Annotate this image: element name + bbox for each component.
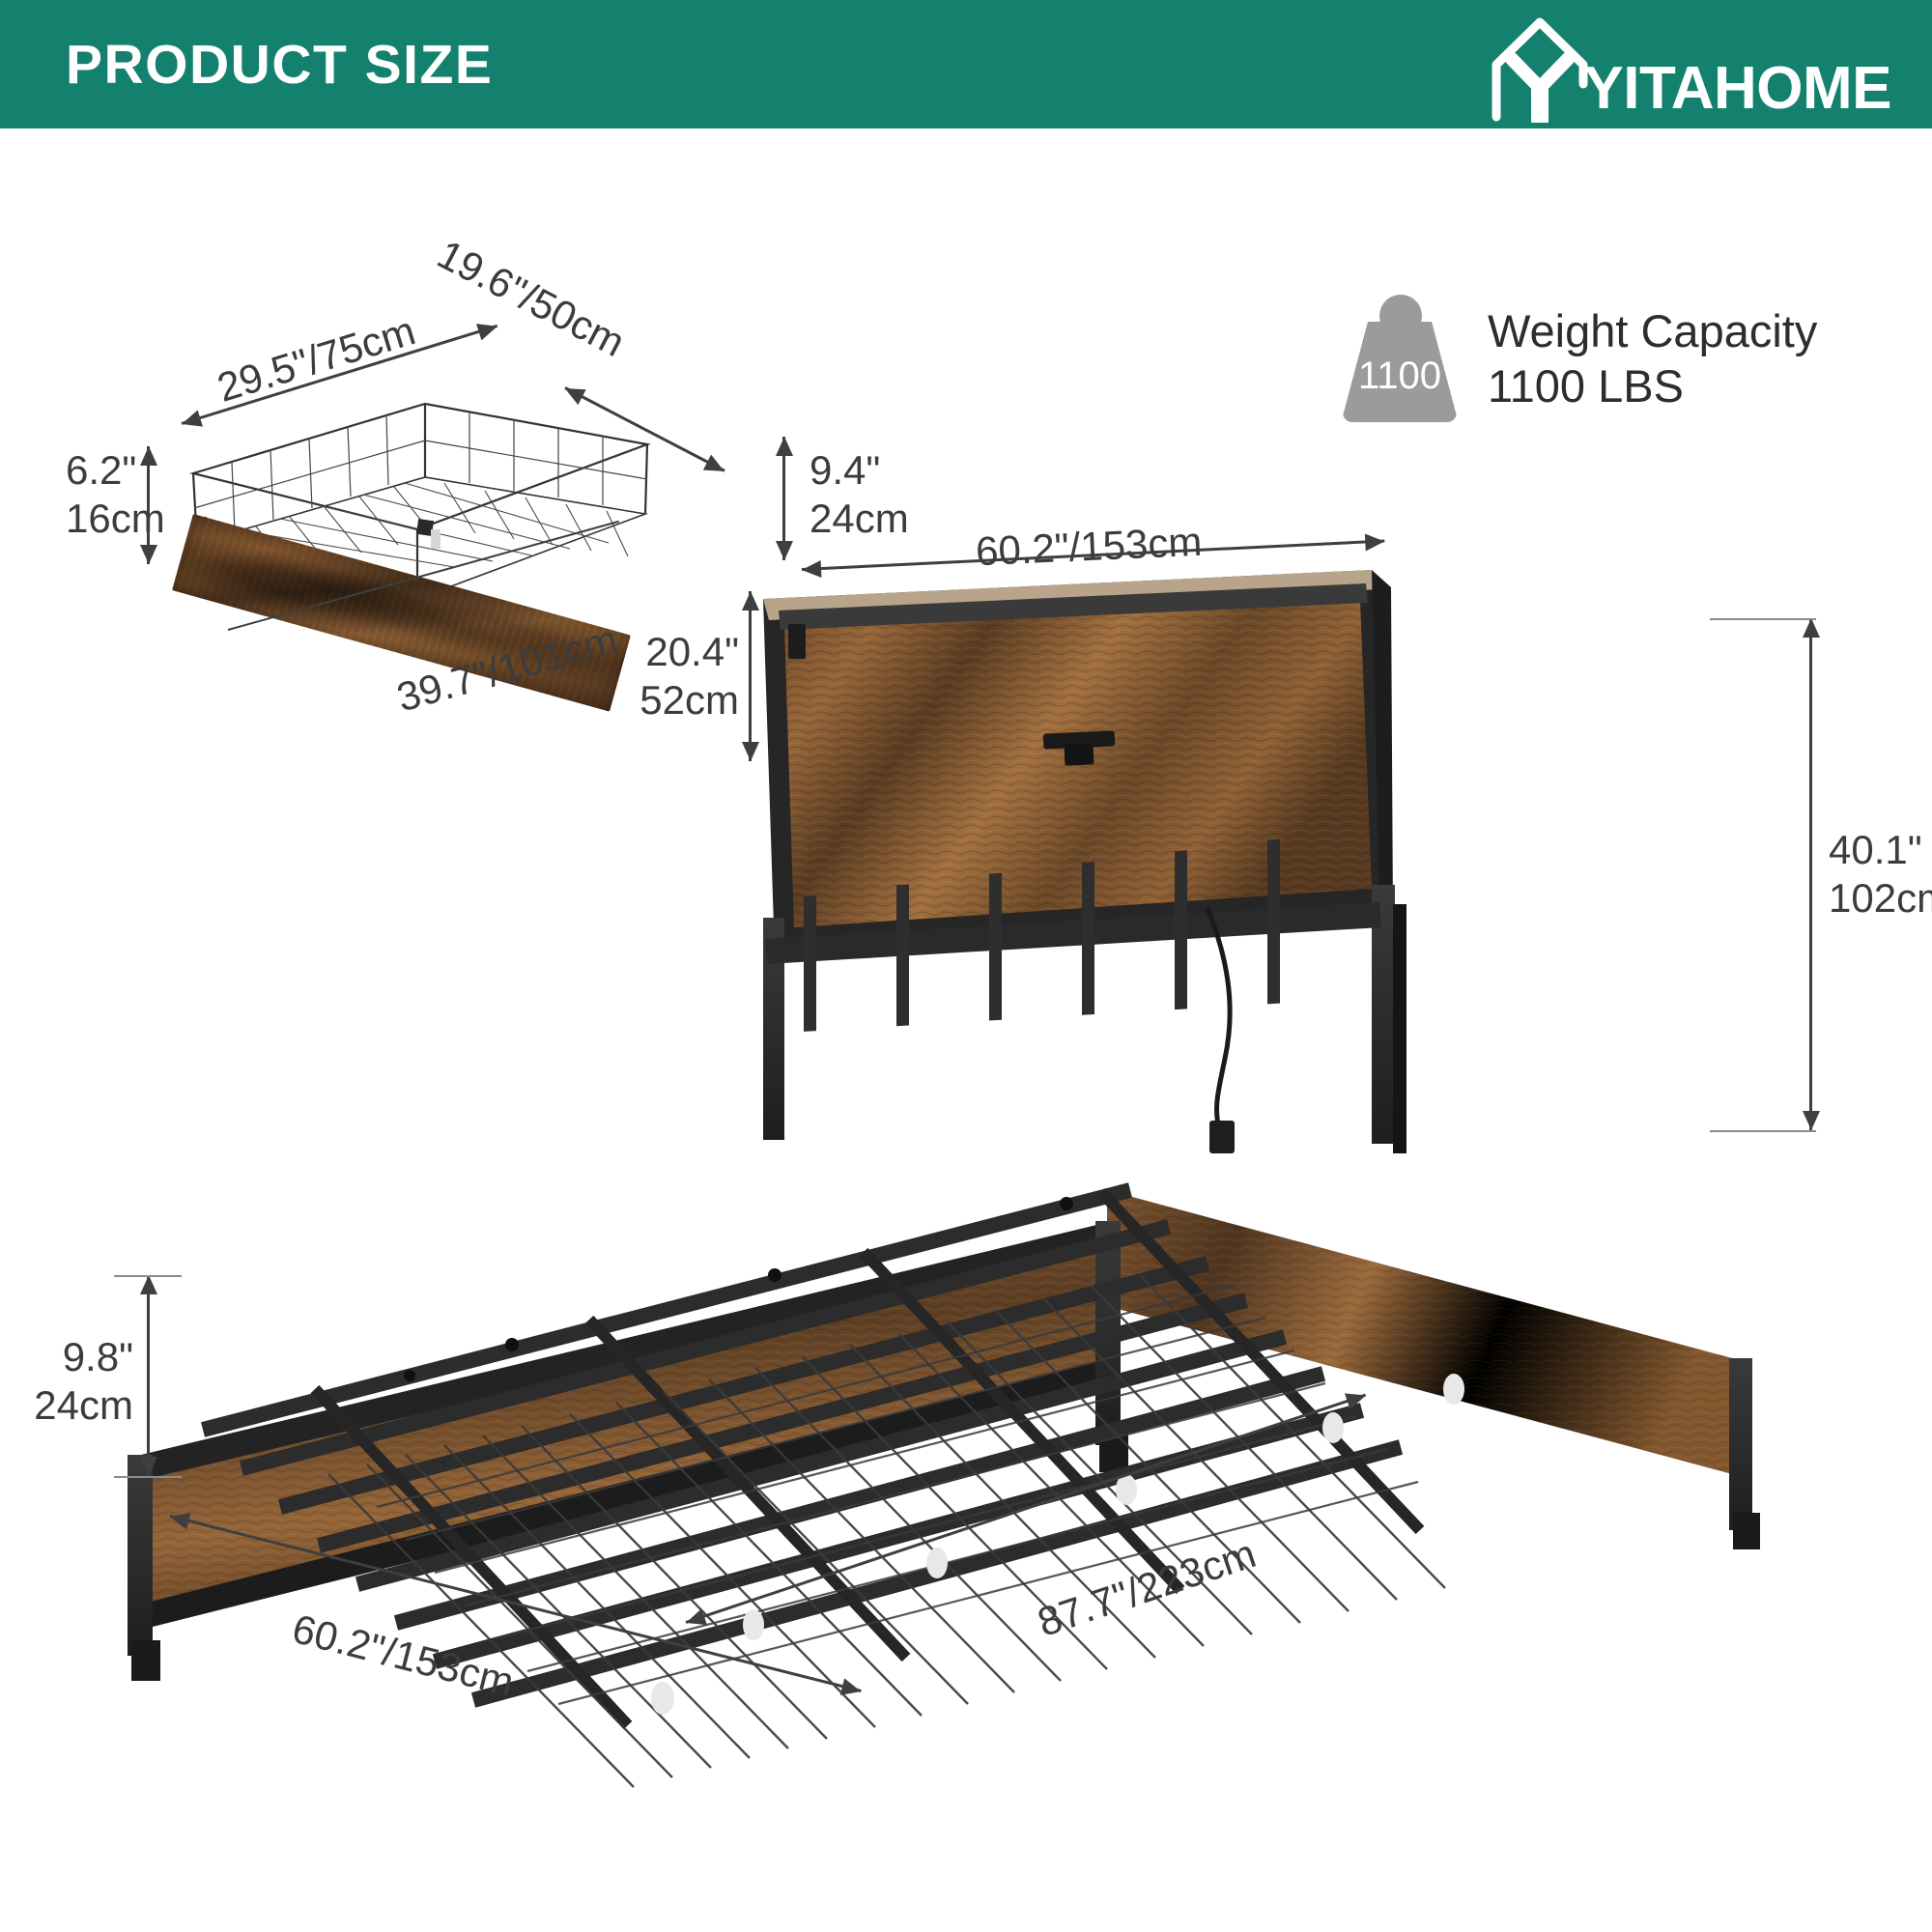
dim-headboard-total-height-inch: 40.1"	[1829, 826, 1932, 874]
page-title: PRODUCT SIZE	[66, 33, 493, 97]
dim-headboard-total-height-cm: 102cm	[1829, 874, 1932, 923]
dim-drawer-panel-height-inch: 9.4"	[810, 446, 909, 495]
headboard-total-height-line	[1809, 618, 1812, 1130]
tick-frame-height-top	[114, 1275, 182, 1277]
weight-capacity-value: 1100 LBS	[1488, 358, 1817, 413]
weight-capacity-badge: 1100 Weight Capacity 1100 LBS	[1343, 295, 1817, 422]
headboard-panel-height-line	[749, 591, 752, 761]
dim-frame-height-cm: 24cm	[14, 1381, 133, 1430]
brand-logo: YITAHOME	[1483, 7, 1891, 123]
tick-total-height-bottom	[1710, 1130, 1816, 1132]
tick-total-height-top	[1710, 618, 1816, 620]
dim-frame-height-inch: 9.8"	[14, 1333, 133, 1381]
brand-name: YITAHOME	[1583, 59, 1891, 119]
frame-height-line	[147, 1275, 150, 1476]
house-y-logo-icon	[1483, 9, 1597, 123]
dim-headboard-panel-height-inch: 20.4"	[638, 628, 739, 676]
dim-drawer-basket-depth-inch: 6.2"	[66, 446, 135, 495]
weight-icon-value: 1100	[1343, 355, 1457, 398]
dim-headboard-panel-height-cm: 52cm	[638, 676, 739, 724]
platform-bed-illustration	[87, 502, 1874, 1884]
dim-headboard-panel-height: 20.4" 52cm	[638, 628, 739, 724]
dim-headboard-total-height: 40.1" 102cm	[1829, 826, 1932, 922]
product-size-infographic: PRODUCT SIZE YITAHOME 1100 Weight Capaci…	[0, 0, 1932, 1932]
dim-frame-height: 9.8" 24cm	[14, 1333, 133, 1429]
weight-capacity-label: Weight Capacity	[1488, 303, 1817, 358]
tick-frame-height-bottom	[114, 1476, 182, 1478]
weight-kettlebell-icon: 1100	[1343, 295, 1457, 422]
header-bar: PRODUCT SIZE YITAHOME	[0, 0, 1932, 128]
